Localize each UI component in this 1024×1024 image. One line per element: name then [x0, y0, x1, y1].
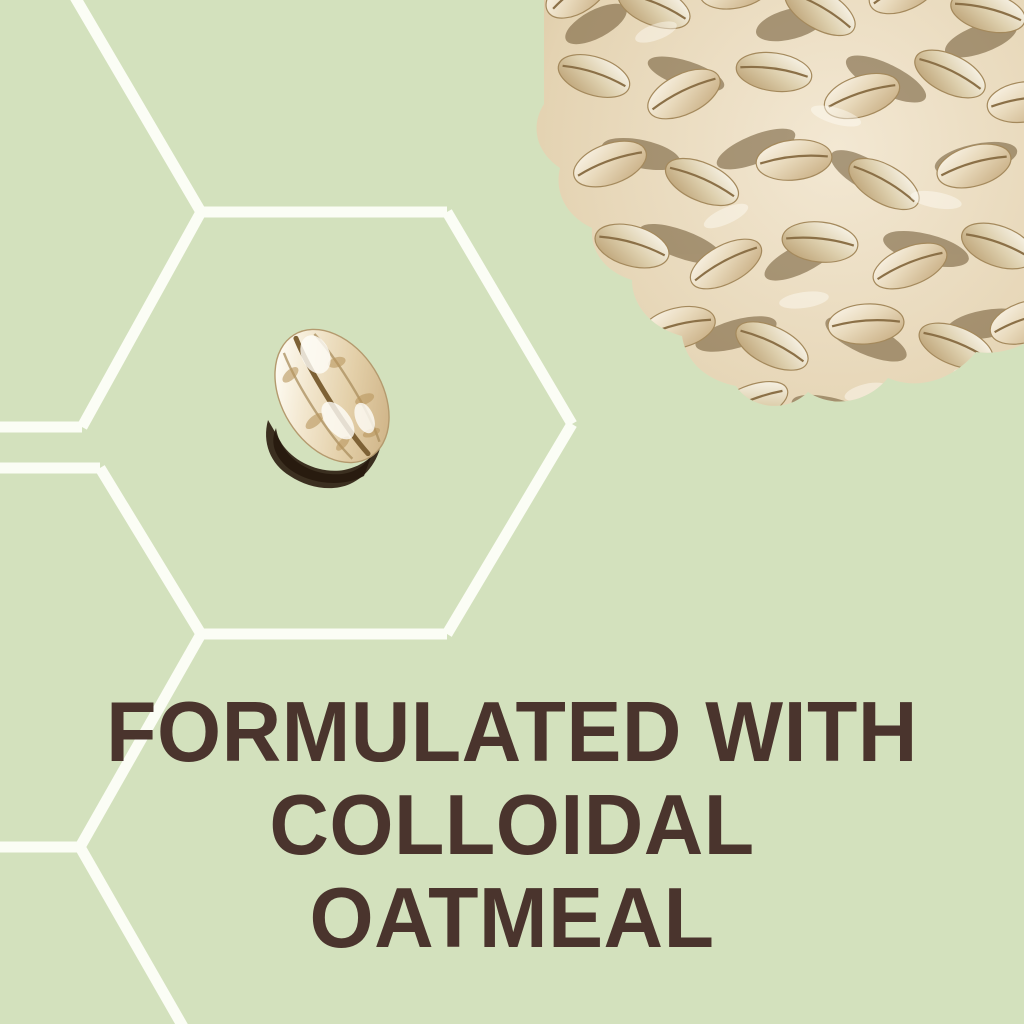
hex-edge-upperleft-lower-diagonal	[82, 212, 201, 427]
hex-edge-mid-upper-left-diagonal	[100, 468, 201, 634]
rolled-oats-pile-image	[536, 0, 1024, 504]
single-oat-flake-image	[246, 308, 418, 504]
headline-line-1: FORMULATED WITH	[15, 686, 1008, 779]
headline-line-3: OATMEAL	[15, 872, 1008, 965]
oat-pile-body	[536, 0, 1024, 504]
headline-line-2: COLLOIDAL	[15, 779, 1008, 872]
headline-text: FORMULATED WITH COLLOIDAL OATMEAL	[0, 686, 1024, 965]
hex-edge-upper-left-diagonal	[72, 0, 201, 212]
product-callout-panel: FORMULATED WITH COLLOIDAL OATMEAL	[0, 0, 1024, 1024]
